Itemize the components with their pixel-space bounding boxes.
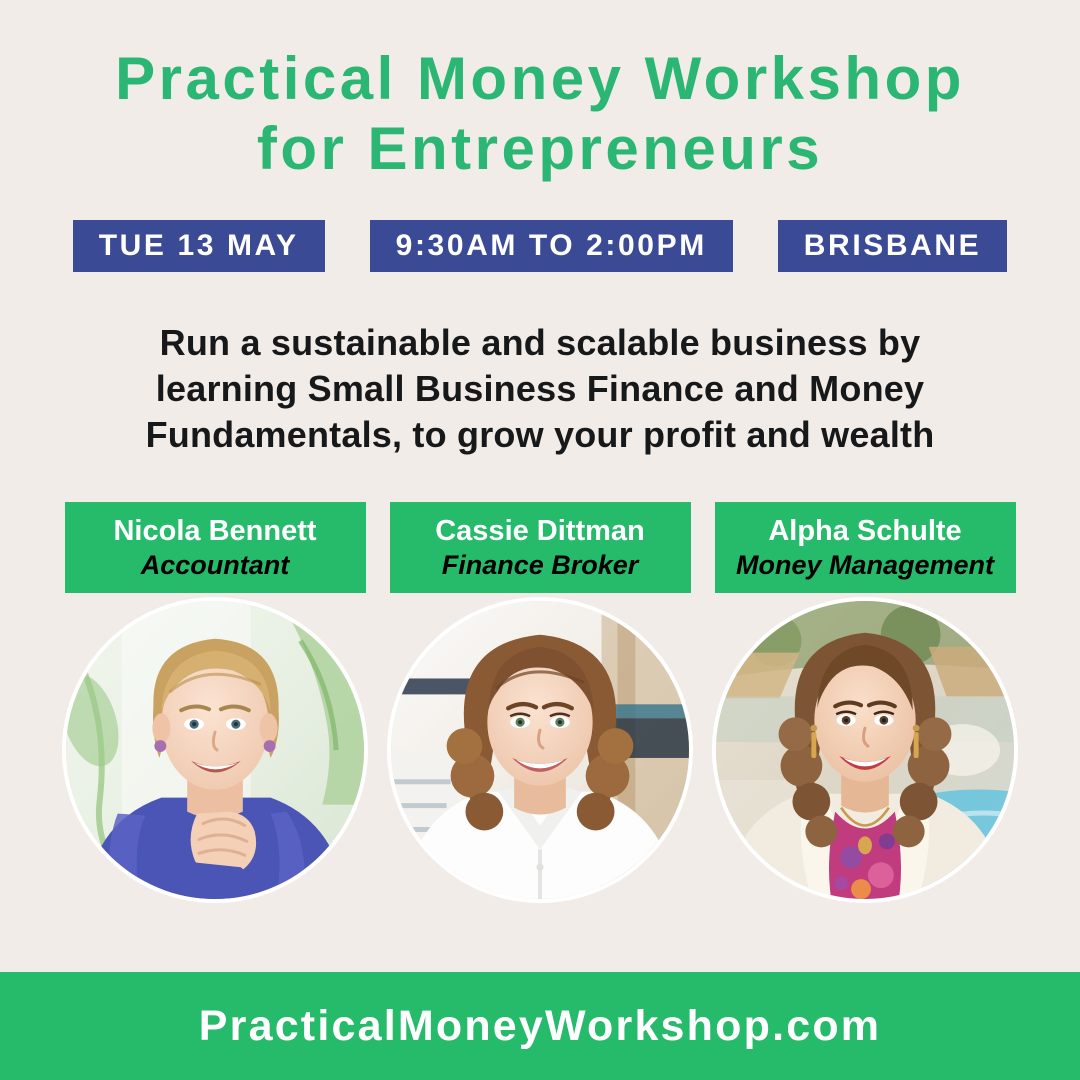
page-title: Practical Money Workshop for Entrepreneu… — [0, 44, 1080, 184]
speaker-role: Accountant — [141, 550, 290, 581]
subheadline-line-3: Fundamentals, to grow your profit and we… — [64, 412, 1016, 458]
speaker-photo-alpha-schulte — [712, 597, 1018, 903]
speaker-photo-cassie-dittman — [387, 597, 693, 903]
speaker-name: Alpha Schulte — [768, 515, 961, 548]
poster: Practical Money Workshop for Entrepreneu… — [0, 0, 1080, 1080]
location-badge: BRISBANE — [778, 220, 1007, 272]
event-details-badges: TUE 13 MAY 9:30AM TO 2:00PM BRISBANE — [0, 220, 1080, 272]
title-line-1: Practical Money Workshop — [30, 44, 1050, 114]
website-url[interactable]: PracticalMoneyWorkshop.com — [199, 1002, 881, 1051]
subheadline-line-2: learning Small Business Finance and Mone… — [64, 366, 1016, 412]
speaker-name-bar: Alpha Schulte Money Management — [715, 502, 1016, 593]
speaker-photo-nicola-bennett — [62, 597, 368, 903]
speaker-name: Cassie Dittman — [435, 515, 645, 548]
time-badge: 9:30AM TO 2:00PM — [370, 220, 733, 272]
speakers-row: Nicola Bennett Accountant — [0, 502, 1080, 903]
speaker-name: Nicola Bennett — [113, 515, 316, 548]
subheadline-line-1: Run a sustainable and scalable business … — [64, 320, 1016, 366]
speaker-role: Money Management — [736, 550, 994, 581]
title-line-2: for Entrepreneurs — [30, 114, 1050, 184]
speaker-role: Finance Broker — [442, 550, 639, 581]
speaker-card-nicola-bennett: Nicola Bennett Accountant — [65, 502, 366, 903]
footer-bar: PracticalMoneyWorkshop.com — [0, 972, 1080, 1080]
speaker-name-bar: Nicola Bennett Accountant — [65, 502, 366, 593]
speaker-card-alpha-schulte: Alpha Schulte Money Management — [715, 502, 1016, 903]
speaker-card-cassie-dittman: Cassie Dittman Finance Broker — [390, 502, 691, 903]
speaker-name-bar: Cassie Dittman Finance Broker — [390, 502, 691, 593]
subheadline: Run a sustainable and scalable business … — [0, 320, 1080, 458]
date-badge: TUE 13 MAY — [73, 220, 325, 272]
